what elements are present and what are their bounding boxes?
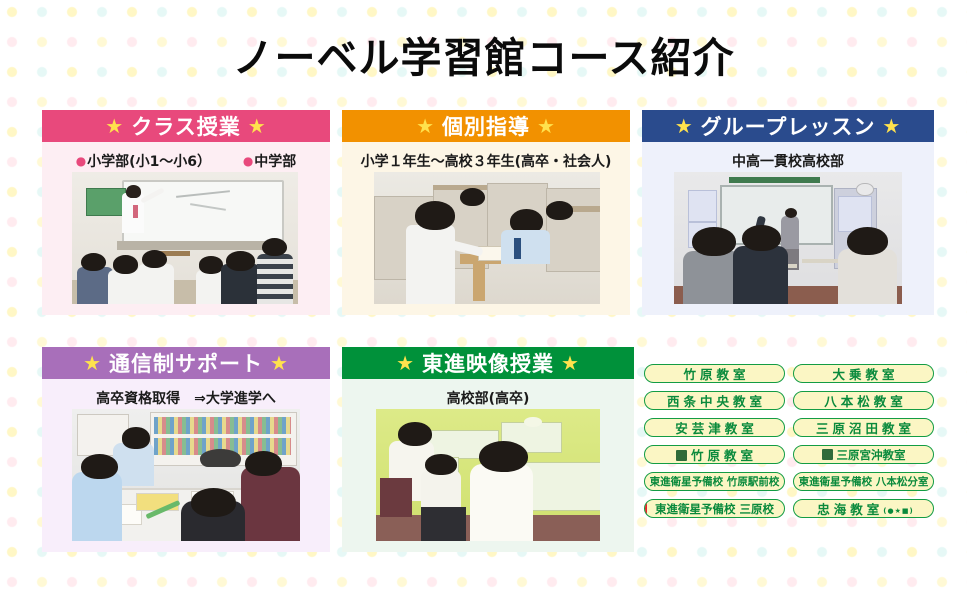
card-header-individual-instruction: ★個別指導★ [342, 110, 630, 142]
classroom-suffix: (●★■) [883, 507, 913, 515]
star-icon: ★ [675, 114, 694, 138]
card-subtitle-toshin-video-lesson: 高校部(高卒) [342, 379, 634, 408]
new-badge: NEW [644, 500, 647, 517]
classroom-badge-icon [676, 450, 687, 461]
classroom-label: 八本松教室 [824, 394, 907, 409]
classroom-label: 東進衛星予備校 三原校 [655, 502, 774, 516]
card-header-toshin-video-lesson: ★東進映像授業★ [342, 347, 634, 379]
card-title: 個別指導 [442, 115, 530, 139]
classroom-label: 東進衛星予備校 竹原駅前校 [650, 476, 780, 488]
star-icon: ★ [537, 114, 556, 138]
classroom-label: 三原宮沖教室 [837, 448, 906, 462]
classroom-label: 大乗教室 [832, 367, 898, 382]
card-subtitle-individual-instruction: 小学１年生〜高校３年生(高卒・社会人) [342, 142, 630, 171]
classroom-chip[interactable]: 三原宮沖教室 [793, 445, 934, 464]
classroom-label: 三原沼田教室 [816, 421, 915, 436]
classroom-chip[interactable]: 竹原教室 [644, 364, 785, 383]
star-icon: ★ [105, 114, 124, 138]
course-photo-correspondence-support [72, 409, 300, 541]
classroom-label: 安芸津教室 [675, 421, 758, 436]
card-header-group-lesson: ★グループレッスン★ [642, 110, 934, 142]
star-icon: ★ [882, 114, 901, 138]
classroom-list: 竹原教室 大乗教室 西条中央教室 八本松教室 安芸津教室 三原沼田教室 竹原教室… [644, 364, 934, 518]
classroom-label: 忠海教室 [817, 502, 883, 517]
course-photo-individual-instruction [374, 172, 600, 304]
card-subtitle-right: 中学部 [254, 154, 296, 170]
card-title: クラス授業 [131, 115, 241, 139]
course-card-group-lesson[interactable]: ★グループレッスン★ 中高一貫校高校部 [642, 110, 934, 315]
card-header-class-lesson: ★クラス授業★ [42, 110, 330, 142]
classroom-chip[interactable]: 安芸津教室 [644, 418, 785, 437]
card-subtitle-correspondence-support: 高卒資格取得 ⇒大学進学へ [42, 379, 330, 408]
classroom-label: 東進衛星予備校 八本松分室 [799, 476, 929, 488]
classroom-chip[interactable]: 西条中央教室 [644, 391, 785, 410]
card-header-correspondence-support: ★通信制サポート★ [42, 347, 330, 379]
classroom-label: 竹原教室 [683, 367, 749, 382]
classroom-label: 竹原教室 [691, 448, 757, 463]
card-title: 通信制サポート [109, 352, 263, 376]
classroom-chip[interactable]: 忠海教室(●★■) [793, 499, 934, 518]
card-title: 東進映像授業 [422, 352, 554, 376]
star-icon: ★ [270, 351, 289, 375]
poster-root: ノーベル学習館コース紹介 ★クラス授業★ ●小学部(小1〜小6） ●中学部 [0, 0, 967, 600]
course-card-class-lesson[interactable]: ★クラス授業★ ●小学部(小1〜小6） ●中学部 [42, 110, 330, 315]
course-card-toshin-video-lesson[interactable]: ★東進映像授業★ 高校部(高卒) [342, 347, 634, 552]
star-icon: ★ [561, 351, 580, 375]
course-card-correspondence-support[interactable]: ★通信制サポート★ 高卒資格取得 ⇒大学進学へ [42, 347, 330, 552]
page-title: ノーベル学習館コース紹介 [0, 24, 967, 84]
bullet-icon: ● [243, 154, 253, 168]
classroom-chip[interactable]: 竹原教室 [644, 445, 785, 464]
course-photo-toshin-video-lesson [376, 409, 600, 541]
course-card-individual-instruction[interactable]: ★個別指導★ 小学１年生〜高校３年生(高卒・社会人) [342, 110, 630, 315]
classroom-chip-new[interactable]: NEW 東進衛星予備校 三原校 [644, 499, 785, 518]
star-icon: ★ [416, 114, 435, 138]
course-photo-group-lesson [674, 172, 902, 304]
card-subtitle-left: 小学部(小1〜小6） [87, 154, 211, 170]
bullet-icon: ● [76, 154, 86, 168]
course-photo-class-lesson [72, 172, 298, 304]
star-icon: ★ [396, 351, 415, 375]
classroom-label: 西条中央教室 [667, 394, 766, 409]
classroom-chip[interactable]: 東進衛星予備校 八本松分室 [793, 472, 934, 491]
classroom-chip[interactable]: 大乗教室 [793, 364, 934, 383]
star-icon: ★ [83, 351, 102, 375]
classroom-badge-icon [822, 449, 833, 460]
card-subtitle-class-lesson: ●小学部(小1〜小6） ●中学部 [42, 142, 330, 171]
card-subtitle-group-lesson: 中高一貫校高校部 [642, 142, 934, 171]
card-title: グループレッスン [701, 115, 876, 139]
classroom-chip[interactable]: 八本松教室 [793, 391, 934, 410]
star-icon: ★ [248, 114, 267, 138]
classroom-chip[interactable]: 三原沼田教室 [793, 418, 934, 437]
classroom-chip[interactable]: 東進衛星予備校 竹原駅前校 [644, 472, 785, 491]
